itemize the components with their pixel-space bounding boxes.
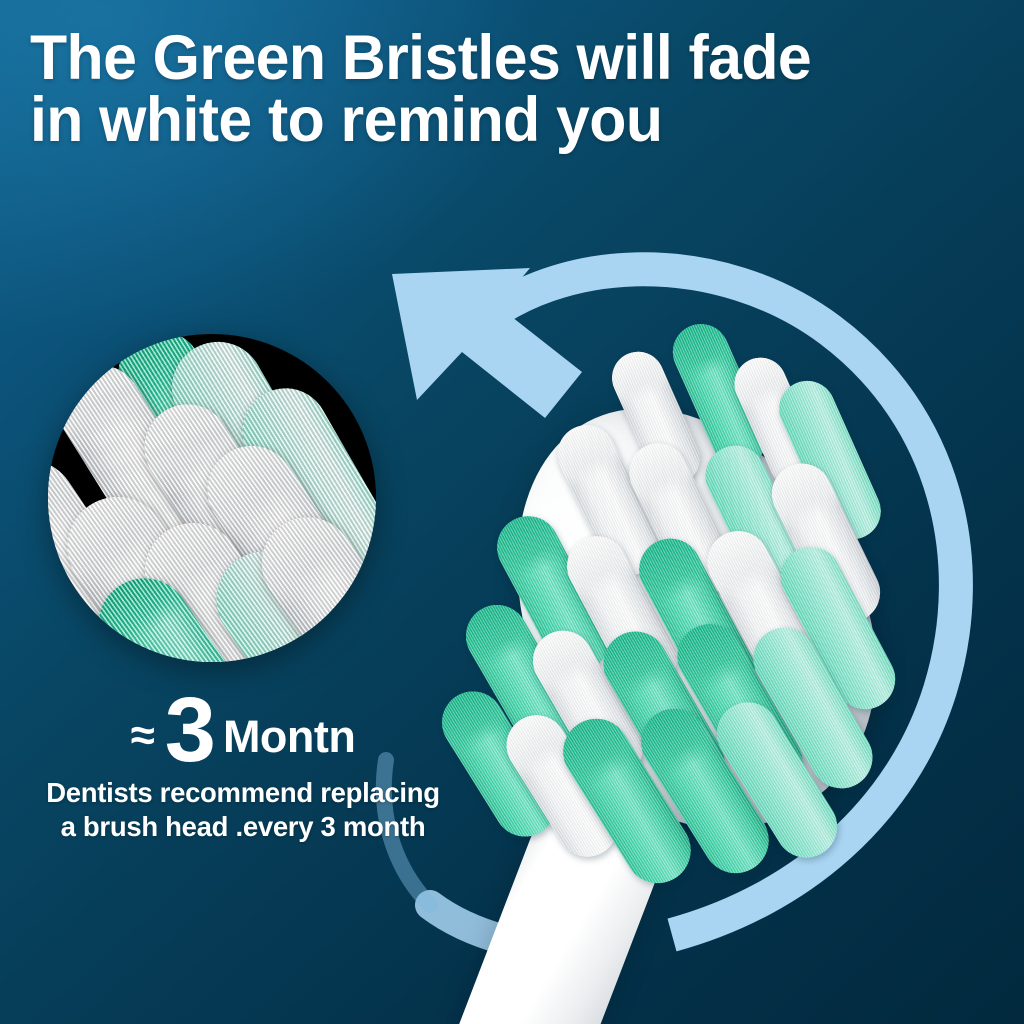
stat-description: Dentists recommend replacing a brush hea…: [28, 776, 458, 843]
approximately-symbol: ≈: [131, 714, 155, 768]
replacement-interval-stat: ≈ 3 Montn Dentists recommend replacing a…: [28, 686, 458, 843]
stat-unit-label: Montn: [223, 714, 355, 768]
promo-image: ≈ 3 Montn Dentists recommend replacing a…: [0, 0, 1024, 1024]
magnified-bristle-closeup-circle: [48, 334, 376, 662]
page-title: The Green Bristles will fade in white to…: [30, 27, 985, 152]
magnified-bristle-field: [48, 334, 376, 662]
electric-toothbrush-head: [430, 280, 990, 1024]
stat-number: 3: [165, 693, 213, 768]
stat-value-row: ≈ 3 Montn: [28, 686, 458, 768]
